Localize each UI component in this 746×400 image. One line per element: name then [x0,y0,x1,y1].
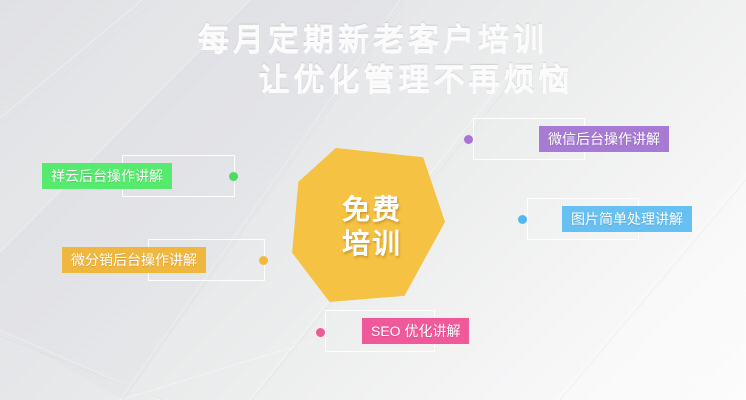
page-title: 每月定期新老客户培训 让优化管理不再烦恼 [0,20,746,100]
topic-chip-wechat-backend[interactable]: 微信后台操作讲解 [539,126,669,152]
topic-chip-image-processing[interactable]: 图片简单处理讲解 [562,206,692,232]
topic-chip-xiangyun-backend[interactable]: 祥云后台操作讲解 [42,163,172,189]
center-badge[interactable]: 免费 培训 [289,148,445,302]
connector-dot-purple [464,135,473,144]
title-line-2: 让优化管理不再烦恼 [0,60,746,100]
promo-banner: 每月定期新老客户培训 让优化管理不再烦恼 免费 培训 祥云后台操作讲解 微分销后… [0,0,746,400]
connector-dot-pink [316,328,325,337]
topic-chip-weifenxiao-backend[interactable]: 微分销后台操作讲解 [62,247,206,273]
connector-dot-green [229,172,238,181]
hexagon-label-line-1: 免费 [342,193,402,227]
title-line-1: 每月定期新老客户培训 [0,20,746,60]
connector-dot-orange [259,256,268,265]
hexagon-label-line-2: 培训 [342,227,402,261]
connector-dot-blue [518,215,527,224]
topic-chip-seo-optimization[interactable]: SEO 优化讲解 [362,318,469,344]
hexagon-label: 免费 培训 [289,148,445,302]
